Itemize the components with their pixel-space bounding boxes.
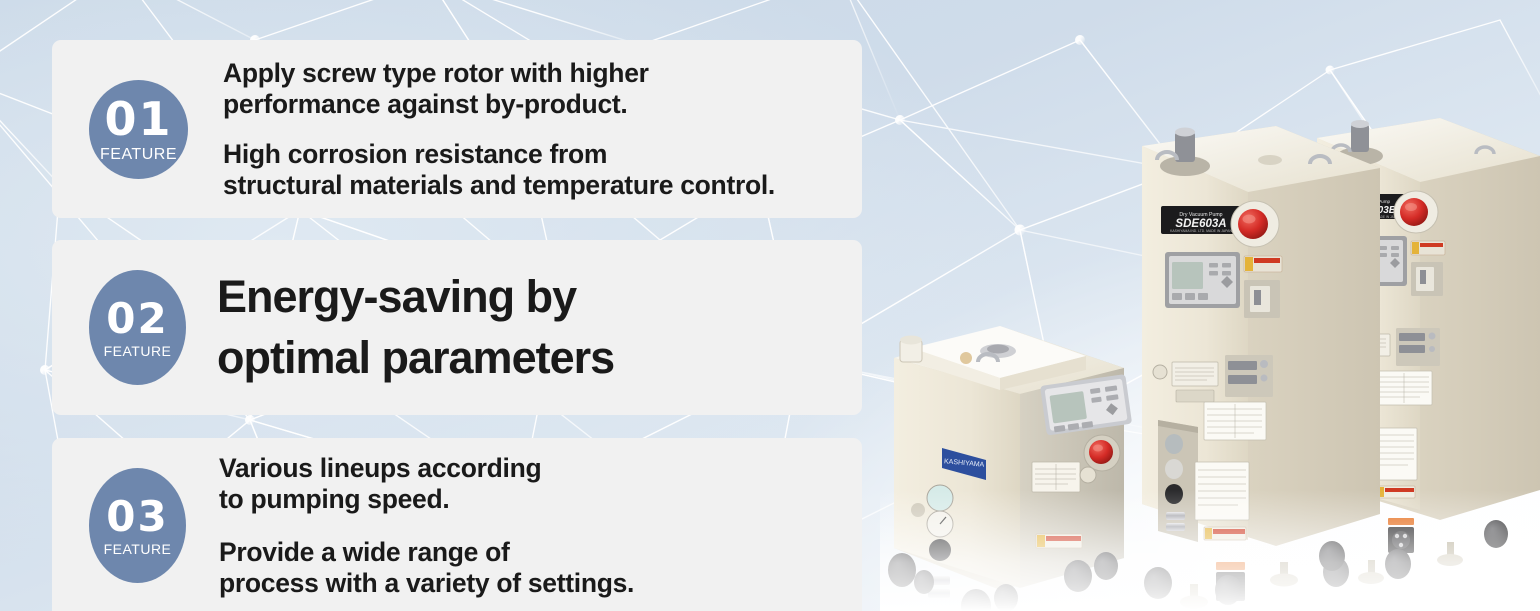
text-line: performance against by-product. — [223, 89, 775, 120]
feature-card-02: 02 FEATURE Energy-saving by optimal para… — [52, 240, 862, 415]
nameplate-sde603a: Dry Vacuum Pump SDE603A KASHIYAMA IND. L… — [1161, 206, 1241, 234]
feature-label: FEATURE — [104, 542, 172, 556]
emergency-stop-button — [1394, 191, 1438, 233]
text-line: Various lineups according — [219, 453, 634, 484]
feature-list: 01 FEATURE Apply screw type rotor with h… — [52, 40, 862, 611]
feature-paragraph: High corrosion resistance from structura… — [223, 139, 775, 201]
feature-number: 03 — [106, 496, 168, 538]
emergency-stop-button — [1084, 435, 1120, 471]
feature-paragraph: Apply screw type rotor with higher perfo… — [223, 58, 775, 120]
feature-text-02: Energy-saving by optimal parameters — [217, 267, 614, 389]
control-panel — [1165, 252, 1240, 308]
feature-text-01: Apply screw type rotor with higher perfo… — [223, 58, 775, 201]
text-line: Energy-saving by — [217, 267, 614, 328]
feature-paragraph: Provide a wide range of process with a v… — [219, 537, 634, 599]
emergency-stop-button — [1231, 201, 1279, 247]
text-line: optimal parameters — [217, 328, 614, 389]
text-line: to pumping speed. — [219, 484, 634, 515]
feature-badge-03: 03 FEATURE — [89, 468, 186, 583]
feature-label: FEATURE — [100, 147, 177, 163]
text-line: High corrosion resistance from — [223, 139, 775, 170]
text-line: Apply screw type rotor with higher — [223, 58, 775, 89]
svg-text:KASHIYAMA IND. LTD. MADE IN: KASHIYAMA IND. LTD. MADE IN JAPAN — [1170, 229, 1232, 233]
text-line: process with a variety of settings. — [219, 568, 634, 599]
feature-paragraph: Various lineups according to pumping spe… — [219, 453, 634, 515]
feature-label: FEATURE — [104, 344, 172, 358]
text-line: Provide a wide range of — [219, 537, 634, 568]
feature-paragraph: Energy-saving by optimal parameters — [217, 267, 614, 389]
feature-badge-01: 01 FEATURE — [89, 80, 188, 179]
text-line: structural materials and temperature con… — [223, 170, 775, 201]
feature-badge-02: 02 FEATURE — [89, 270, 186, 385]
feature-card-03: 03 FEATURE Various lineups according to … — [52, 438, 862, 611]
feature-text-03: Various lineups according to pumping spe… — [219, 453, 634, 599]
product-photo-dry-vacuum-pump-lineup: Dry Vacuum Pump SDE1203B KASHIYAMA IND. … — [880, 90, 1540, 611]
feature-number: 01 — [104, 96, 172, 142]
feature-number: 02 — [106, 298, 168, 340]
feature-card-01: 01 FEATURE Apply screw type rotor with h… — [52, 40, 862, 218]
